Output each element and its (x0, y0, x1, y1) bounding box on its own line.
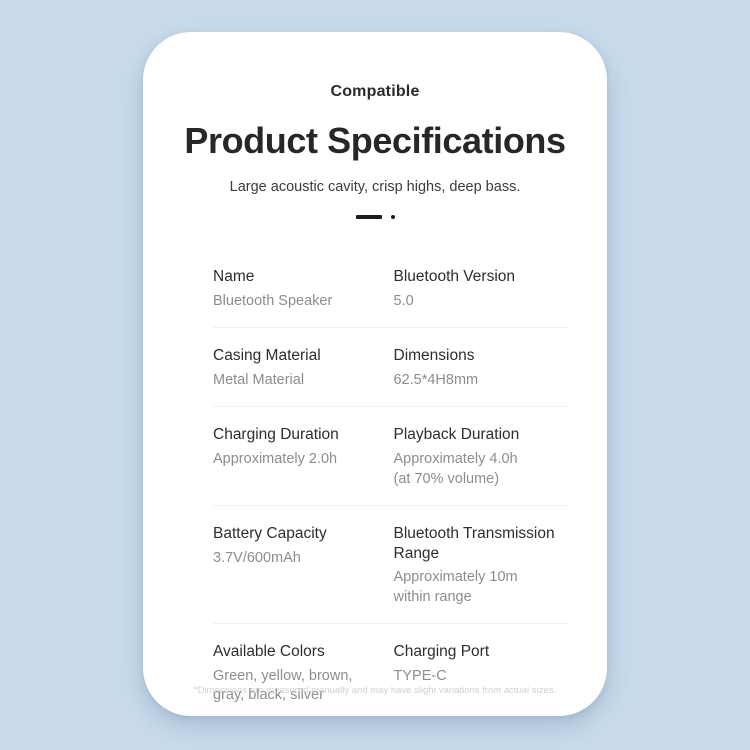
spec-value: Metal Material (213, 371, 382, 390)
spec-label: Charging Port (394, 642, 571, 662)
spec-value: 3.7V/600mAh (213, 549, 382, 568)
spec-cell-name: Name Bluetooth Speaker (213, 267, 392, 311)
disclaimer-note: *Dimensions are measured manually and ma… (143, 685, 607, 696)
table-row: Charging Duration Approximately 2.0h Pla… (213, 425, 570, 505)
spec-label: Playback Duration (394, 425, 571, 445)
spec-cell-casing-material: Casing Material Metal Material (213, 346, 392, 390)
spec-value: Bluetooth Speaker (213, 292, 382, 311)
specifications-table: Name Bluetooth Speaker Bluetooth Version… (213, 267, 570, 705)
spec-cell-bluetooth-transmission-range: Bluetooth Transmission Range Approximate… (392, 524, 571, 607)
table-row: Casing Material Metal Material Dimension… (213, 346, 570, 407)
spec-cell-battery-capacity: Battery Capacity 3.7V/600mAh (213, 524, 392, 607)
spec-label: Bluetooth Version (394, 267, 571, 287)
spec-label: Name (213, 267, 382, 287)
spec-label: Battery Capacity (213, 524, 382, 544)
spec-label: Available Colors (213, 642, 382, 662)
spec-cell-bluetooth-version: Bluetooth Version 5.0 (392, 267, 571, 311)
spec-value: 62.5*4H8mm (394, 371, 571, 390)
spec-cell-playback-duration: Playback Duration Approximately 4.0h (at… (392, 425, 571, 488)
spec-value: TYPE-C (394, 667, 571, 686)
eyebrow-text: Compatible (143, 82, 607, 101)
spec-value: 5.0 (394, 292, 571, 311)
subtitle-text: Large acoustic cavity, crisp highs, deep… (143, 179, 607, 196)
spec-cell-dimensions: Dimensions 62.5*4H8mm (392, 346, 571, 390)
spec-value: Approximately 4.0h (at 70% volume) (394, 450, 571, 489)
spec-value: Approximately 2.0h (213, 450, 382, 469)
spec-cell-charging-duration: Charging Duration Approximately 2.0h (213, 425, 392, 488)
table-row: Battery Capacity 3.7V/600mAh Bluetooth T… (213, 524, 570, 624)
product-specifications-card: Compatible Product Specifications Large … (143, 32, 607, 716)
dot-icon (391, 215, 395, 219)
page-title: Product Specifications (143, 121, 607, 161)
spec-value: Approximately 10m within range (394, 568, 571, 607)
table-row: Name Bluetooth Speaker Bluetooth Version… (213, 267, 570, 328)
dash-dot-ornament (143, 212, 607, 222)
spec-label: Casing Material (213, 346, 382, 366)
spec-label: Bluetooth Transmission Range (394, 524, 571, 564)
spec-label: Dimensions (394, 346, 571, 366)
spec-label: Charging Duration (213, 425, 382, 445)
card-header: Compatible Product Specifications Large … (143, 32, 607, 222)
dash-icon (356, 215, 382, 219)
